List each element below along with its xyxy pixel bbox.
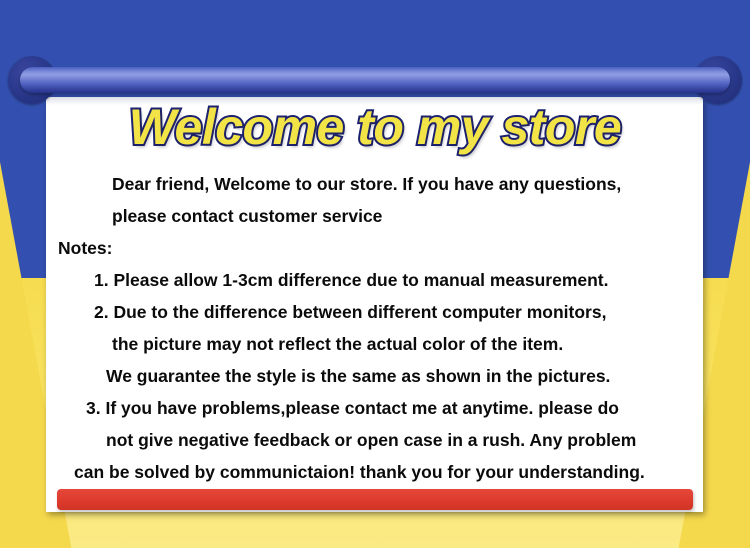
banner-text-line: We guarantee the style is the same as sh… bbox=[46, 360, 703, 392]
banner-text-line: Dear friend, Welcome to our store. If yo… bbox=[46, 168, 703, 200]
banner-title: Welcome to my store bbox=[0, 98, 750, 156]
banner-text-line: 3. If you have problems,please contact m… bbox=[46, 392, 703, 424]
banner-body-text: Dear friend, Welcome to our store. If yo… bbox=[46, 168, 703, 488]
banner-text-line: the picture may not reflect the actual c… bbox=[46, 328, 703, 360]
banner-text-line: Notes: bbox=[46, 232, 703, 264]
footer-red-bar bbox=[57, 489, 693, 510]
banner-text-line: 2. Due to the difference between differe… bbox=[46, 296, 703, 328]
store-welcome-banner: Welcome to my store Dear friend, Welcome… bbox=[0, 0, 750, 548]
banner-text-line: can be solved by communictaion! thank yo… bbox=[46, 456, 703, 488]
banner-text-line: not give negative feedback or open case … bbox=[46, 424, 703, 456]
banner-text-line: 1. Please allow 1-3cm difference due to … bbox=[46, 264, 703, 296]
banner-text-line: please contact customer service bbox=[46, 200, 703, 232]
rod-bar bbox=[20, 67, 730, 93]
